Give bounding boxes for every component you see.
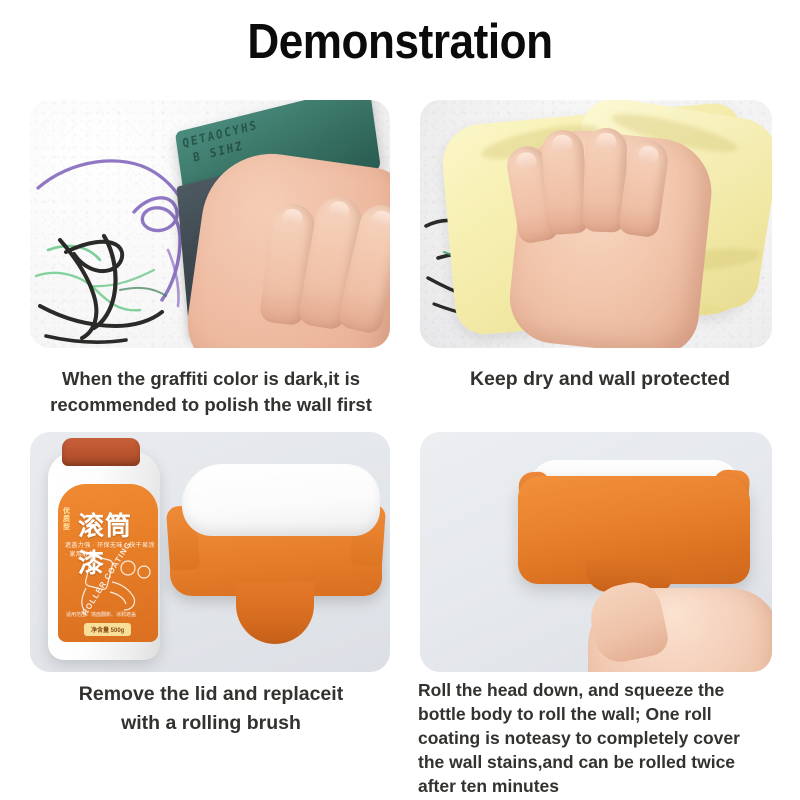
step-3-photo: 优质型 滚筒漆 遮盖力强 · 环保无味 · 快干易涂 · 家用必备 ROLLER…: [30, 432, 390, 672]
step-1-caption: When the graffiti color is dark,it is re…: [16, 366, 406, 418]
label-weight-badge: 净含量 500g: [84, 623, 131, 636]
caption-line: When the graffiti color is dark,it is: [16, 366, 406, 392]
step-3-caption: Remove the lid and replaceit with a roll…: [16, 680, 406, 738]
label-note-text: 适用范围：墙面翻新、涂鸦遮盖: [66, 612, 136, 618]
caption-line: recommended to polish the wall first: [16, 392, 406, 418]
fingernail: [515, 151, 537, 170]
fingernail: [282, 208, 304, 226]
step-1-photo: QETAOCYHS B SIHZ: [30, 100, 390, 348]
roller-fabric: [182, 464, 380, 536]
label-side-text: 优质型: [63, 508, 75, 532]
label-illustration: ROLLER COATING: [66, 552, 152, 616]
caption-line: coating is noteasy to completely cover: [418, 726, 790, 750]
caption-line: the wall stains,and can be rolled twice: [418, 750, 790, 774]
caption-line: Roll the head down, and squeeze the: [418, 678, 790, 702]
fingernail: [371, 209, 390, 229]
fingernail: [638, 145, 660, 164]
fingernail: [552, 134, 573, 151]
step-2-photo: [420, 100, 772, 348]
caption-line: Remove the lid and replaceit: [16, 680, 406, 709]
demonstration-infographic: Demonstration: [0, 0, 800, 800]
bottle-cap: [62, 438, 140, 466]
caption-line: with a rolling brush: [16, 709, 406, 738]
caption-line: bottle body to roll the wall; One roll: [418, 702, 790, 726]
caption-line: Keep dry and wall protected: [412, 366, 788, 392]
bottle-label: 优质型 滚筒漆 遮盖力强 · 环保无味 · 快干易涂 · 家用必备 ROLLER…: [58, 484, 158, 642]
step-4-caption: Roll the head down, and squeeze the bott…: [418, 678, 790, 798]
caption-line: after ten minutes: [418, 774, 790, 798]
fingernail: [596, 133, 617, 150]
step-4-photo: [420, 432, 772, 672]
page-title: Demonstration: [40, 14, 760, 70]
step-2-caption: Keep dry and wall protected: [412, 366, 788, 392]
fingernail: [328, 200, 350, 219]
